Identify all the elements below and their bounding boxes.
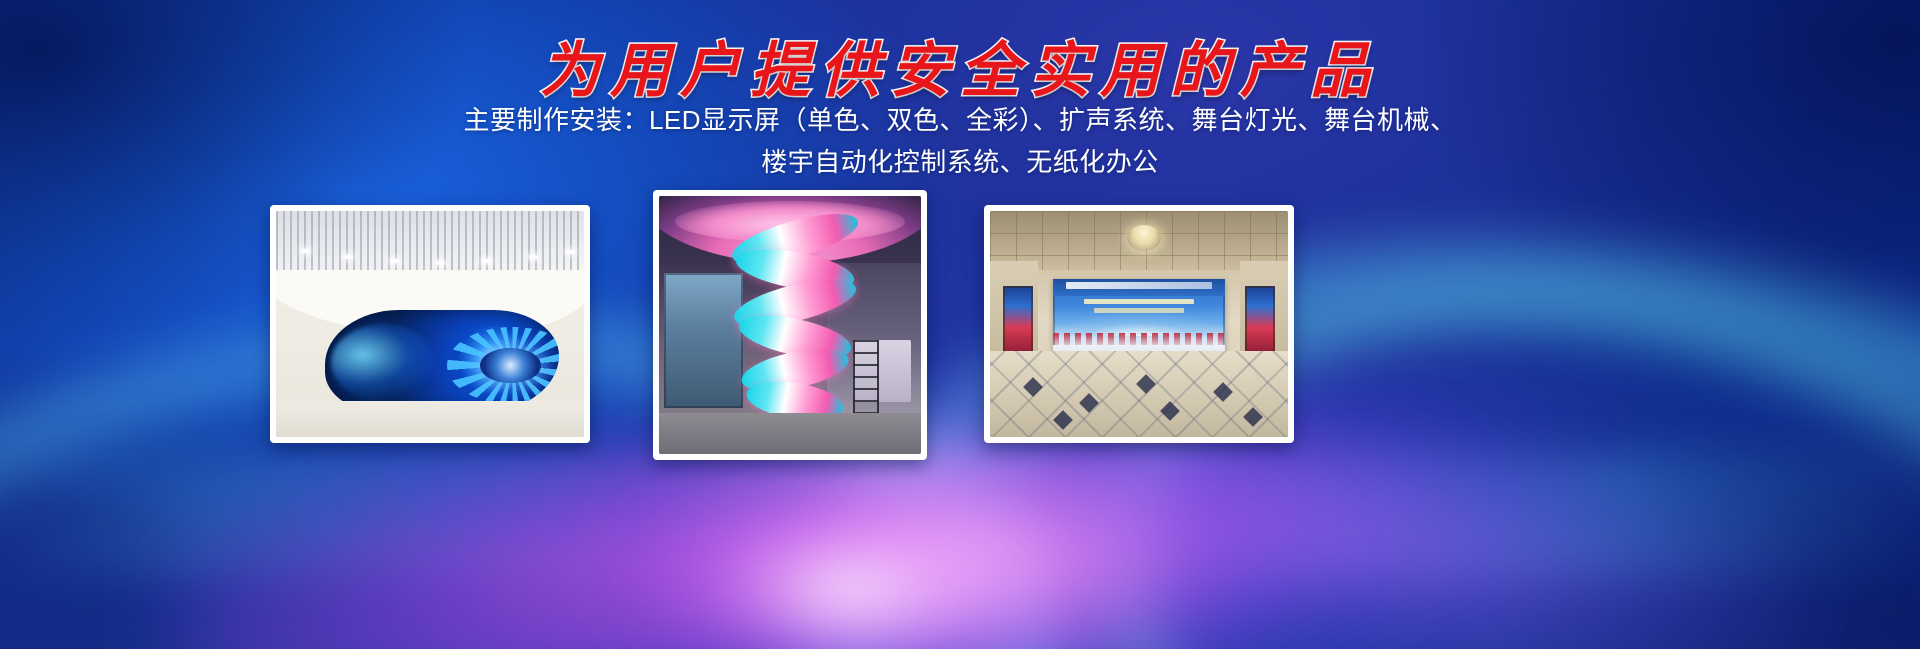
photo3-left-pillar-led-screen <box>1003 286 1033 354</box>
photo3-stage-led-screen <box>1053 279 1226 356</box>
photo3-scene <box>990 211 1288 437</box>
photo-card-conference-hall-stage-led-screen[interactable] <box>984 205 1294 443</box>
photo-card-eye-shaped-led-ceiling-display[interactable] <box>270 205 590 443</box>
photo-gallery <box>0 0 1920 649</box>
photo1-floor <box>276 401 584 437</box>
photo-eye-shaped-led-ceiling-display <box>276 211 584 437</box>
photo-card-spiral-helix-led-column[interactable] <box>653 190 927 460</box>
photo3-screen-skyline-graphic <box>1053 333 1226 345</box>
photo3-right-pillar-led-screen <box>1245 286 1275 354</box>
photo1-screen-glow <box>331 324 436 401</box>
photo2-floor <box>659 413 921 454</box>
photo1-scene <box>276 211 584 437</box>
led-promo-banner: 为用户提供安全实用的产品 主要制作安装：LED显示屏（单色、双色、全彩）、扩声系… <box>0 0 1920 649</box>
photo3-tiled-floor <box>990 351 1288 437</box>
photo3-chandelier <box>1127 225 1161 251</box>
photo-spiral-helix-led-column <box>659 196 921 454</box>
photo3-screen-title-bar <box>1066 282 1211 289</box>
photo-conference-hall-stage-led-screen <box>990 211 1288 437</box>
photo3-screen-subtitle-bar <box>1084 299 1195 304</box>
photo2-spiral-led-ribbon <box>727 217 863 439</box>
photo2-scene <box>659 196 921 454</box>
